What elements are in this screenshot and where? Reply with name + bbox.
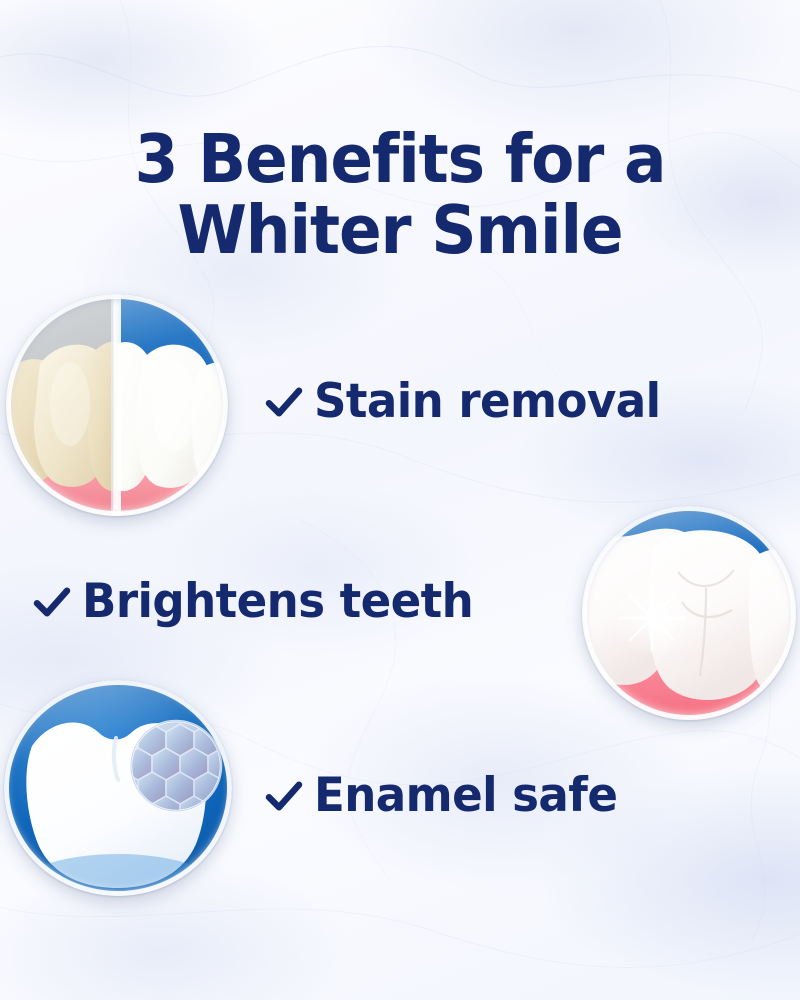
page-title: 3 Benefits for a Whiter Smile — [24, 127, 776, 263]
benefit-label-brightens-teeth: Brightens teeth — [82, 578, 473, 625]
stain-removal-illustration — [6, 294, 228, 516]
benefit-label-stain-removal: Stain removal — [314, 378, 661, 425]
benefit-row-brightens-teeth: Brightens teeth — [32, 578, 490, 625]
page-title-line-1: 3 Benefits for a — [24, 127, 776, 192]
benefit-row-enamel-safe: Enamel safe — [264, 772, 630, 819]
check-icon — [264, 382, 304, 422]
benefit-image-stain-removal — [6, 294, 228, 516]
brightens-teeth-illustration — [582, 506, 796, 720]
page-title-line-2: Whiter Smile — [24, 198, 776, 263]
benefit-label-enamel-safe: Enamel safe — [314, 772, 617, 819]
benefit-image-enamel-safe — [4, 680, 232, 896]
poster-canvas: 3 Benefits for a Whiter Smile — [0, 0, 800, 1000]
check-icon — [264, 776, 304, 816]
benefit-row-stain-removal: Stain removal — [264, 378, 675, 425]
enamel-safe-illustration — [4, 680, 232, 896]
check-icon — [32, 582, 72, 622]
benefit-image-brightens-teeth — [582, 506, 796, 720]
